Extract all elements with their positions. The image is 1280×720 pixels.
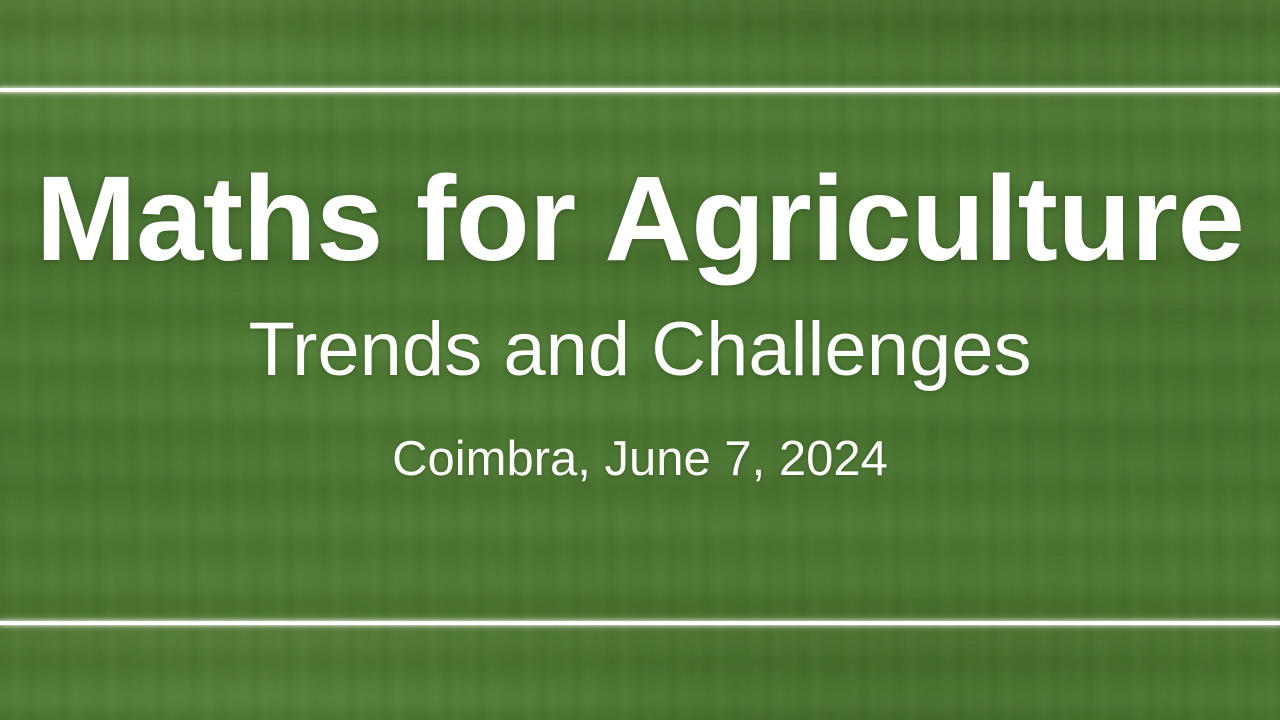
slide-subtitle: Trends and Challenges <box>248 312 1031 388</box>
bottom-divider <box>0 621 1280 625</box>
slide-date-location: Coimbra, June 7, 2024 <box>392 435 888 484</box>
title-slide: Maths for Agriculture Trends and Challen… <box>0 0 1280 720</box>
slide-content: Maths for Agriculture Trends and Challen… <box>0 92 1280 621</box>
slide-title: Maths for Agriculture <box>36 158 1245 279</box>
